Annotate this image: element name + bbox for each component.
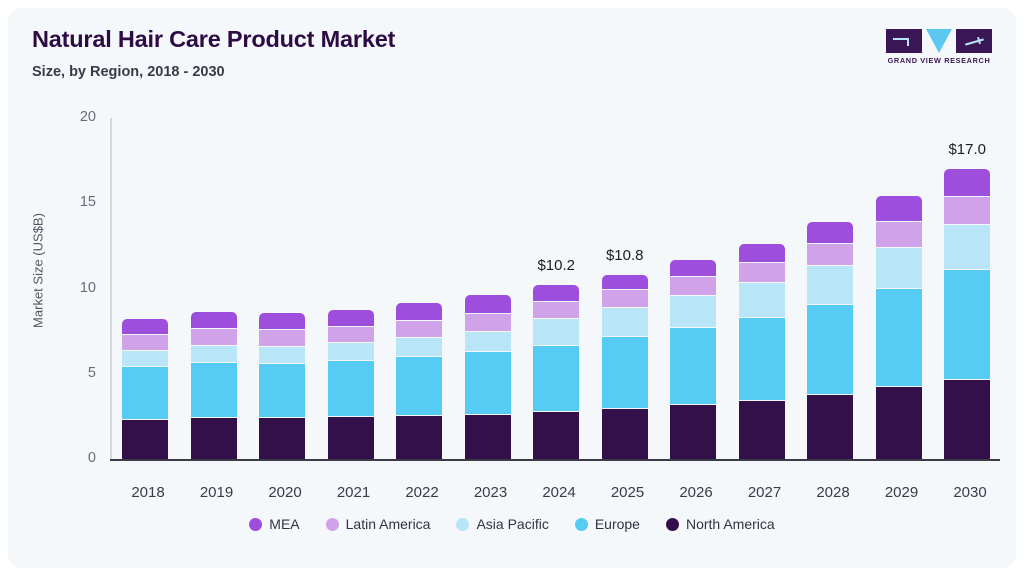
x-tick-label: 2020 bbox=[248, 484, 322, 501]
x-tick-label: 2027 bbox=[728, 484, 802, 501]
legend-item[interactable]: Asia Pacific bbox=[456, 516, 548, 532]
bar-segment[interactable] bbox=[533, 302, 579, 319]
bar-segment[interactable] bbox=[191, 346, 237, 363]
bar-stack bbox=[533, 285, 579, 459]
bar-segment[interactable] bbox=[465, 314, 511, 332]
bar-segment[interactable] bbox=[944, 380, 990, 459]
bar-stack bbox=[602, 275, 648, 459]
bar-segment[interactable] bbox=[122, 335, 168, 350]
bar-segment[interactable] bbox=[259, 347, 305, 365]
bar-segment[interactable] bbox=[807, 222, 853, 244]
legend-label: Europe bbox=[595, 516, 640, 532]
x-tick-label: 2019 bbox=[180, 484, 254, 501]
bar-segment[interactable] bbox=[259, 418, 305, 459]
y-axis-line bbox=[110, 118, 112, 460]
bar-segment[interactable] bbox=[876, 289, 922, 388]
bar-segment[interactable] bbox=[876, 196, 922, 222]
bar-stack bbox=[807, 222, 853, 459]
legend-swatch-icon bbox=[326, 518, 339, 531]
bar-stack bbox=[191, 312, 237, 459]
legend-label: MEA bbox=[269, 516, 299, 532]
bar-stack bbox=[122, 319, 168, 459]
bar-segment[interactable] bbox=[396, 338, 442, 357]
bar-segment[interactable] bbox=[807, 244, 853, 266]
x-tick-label: 2030 bbox=[933, 484, 1007, 501]
bar-stack bbox=[670, 260, 716, 459]
bar-segment[interactable] bbox=[944, 270, 990, 380]
legend-label: North America bbox=[686, 516, 775, 532]
bar-segment[interactable] bbox=[739, 318, 785, 401]
bar-segment[interactable] bbox=[122, 367, 168, 420]
bar-segment[interactable] bbox=[259, 364, 305, 418]
bar-segment[interactable] bbox=[602, 290, 648, 308]
x-tick-label: 2021 bbox=[317, 484, 391, 501]
bar-segment[interactable] bbox=[396, 416, 442, 459]
bar-segment[interactable] bbox=[739, 244, 785, 263]
y-tick-label: 5 bbox=[50, 365, 96, 381]
bar-segment[interactable] bbox=[670, 296, 716, 328]
x-tick-label: 2018 bbox=[111, 484, 185, 501]
x-tick-label: 2029 bbox=[865, 484, 939, 501]
bar-segment[interactable] bbox=[122, 319, 168, 335]
y-axis-title: Market Size (US$B) bbox=[31, 181, 46, 361]
bar-segment[interactable] bbox=[465, 352, 511, 415]
bar-segment[interactable] bbox=[396, 357, 442, 417]
bar-segment[interactable] bbox=[602, 337, 648, 409]
chart-legend: MEALatin AmericaAsia PacificEuropeNorth … bbox=[8, 516, 1016, 532]
bar-segment[interactable] bbox=[670, 405, 716, 459]
chart-card: Natural Hair Care Product Market Size, b… bbox=[8, 8, 1016, 568]
y-tick-label: 20 bbox=[50, 109, 96, 125]
legend-item[interactable]: North America bbox=[666, 516, 775, 532]
bar-stack bbox=[328, 310, 374, 459]
bar-segment[interactable] bbox=[670, 260, 716, 278]
legend-item[interactable]: Europe bbox=[575, 516, 640, 532]
bar-segment[interactable] bbox=[944, 225, 990, 269]
bar-segment[interactable] bbox=[465, 332, 511, 352]
chart-plot-area: Market Size (US$B) 05101520 $10.2$10.8$1… bbox=[8, 8, 1016, 568]
bar-segment[interactable] bbox=[191, 329, 237, 345]
bar-stack bbox=[465, 295, 511, 459]
legend-label: Latin America bbox=[346, 516, 431, 532]
legend-item[interactable]: MEA bbox=[249, 516, 299, 532]
bar-segment[interactable] bbox=[739, 401, 785, 459]
bar-stack bbox=[739, 244, 785, 459]
bar-segment[interactable] bbox=[191, 312, 237, 329]
legend-swatch-icon bbox=[575, 518, 588, 531]
bar-segment[interactable] bbox=[670, 277, 716, 296]
bar-segment[interactable] bbox=[259, 330, 305, 346]
bar-segment[interactable] bbox=[396, 321, 442, 338]
bar-stack bbox=[396, 303, 442, 459]
bar-segment[interactable] bbox=[191, 363, 237, 418]
bar-segment[interactable] bbox=[602, 308, 648, 337]
bar-segment[interactable] bbox=[670, 328, 716, 406]
y-tick-label: 0 bbox=[50, 450, 96, 466]
bar-segment[interactable] bbox=[533, 319, 579, 345]
bar-segment[interactable] bbox=[739, 283, 785, 318]
legend-item[interactable]: Latin America bbox=[326, 516, 431, 532]
y-tick-label: 10 bbox=[50, 280, 96, 296]
bar-segment[interactable] bbox=[944, 197, 990, 225]
x-tick-label: 2025 bbox=[591, 484, 665, 501]
legend-label: Asia Pacific bbox=[476, 516, 548, 532]
legend-swatch-icon bbox=[456, 518, 469, 531]
legend-swatch-icon bbox=[666, 518, 679, 531]
x-tick-label: 2028 bbox=[796, 484, 870, 501]
y-tick-label: 15 bbox=[50, 194, 96, 210]
bar-stack bbox=[944, 169, 990, 459]
bar-segment[interactable] bbox=[807, 266, 853, 304]
bar-value-label: $17.0 bbox=[930, 141, 1004, 158]
x-tick-label: 2024 bbox=[522, 484, 596, 501]
x-tick-label: 2022 bbox=[385, 484, 459, 501]
bar-stack bbox=[876, 196, 922, 459]
bar-segment[interactable] bbox=[465, 415, 511, 459]
bar-value-label: $10.2 bbox=[519, 257, 593, 274]
bar-segment[interactable] bbox=[328, 343, 374, 361]
bar-segment[interactable] bbox=[739, 263, 785, 283]
bar-segment[interactable] bbox=[602, 275, 648, 290]
bar-segment[interactable] bbox=[122, 420, 168, 459]
bar-stack bbox=[259, 313, 305, 459]
bar-segment[interactable] bbox=[396, 303, 442, 321]
bar-value-label: $10.8 bbox=[588, 247, 662, 264]
bar-segment[interactable] bbox=[876, 248, 922, 288]
bar-segment[interactable] bbox=[328, 417, 374, 459]
legend-swatch-icon bbox=[249, 518, 262, 531]
bar-segment[interactable] bbox=[876, 222, 922, 248]
x-tick-label: 2026 bbox=[659, 484, 733, 501]
x-tick-label: 2023 bbox=[454, 484, 528, 501]
bar-segment[interactable] bbox=[533, 412, 579, 459]
bar-segment[interactable] bbox=[259, 313, 305, 330]
bar-segment[interactable] bbox=[602, 409, 648, 459]
bar-segment[interactable] bbox=[191, 418, 237, 459]
bar-segment[interactable] bbox=[533, 346, 579, 412]
bar-segment[interactable] bbox=[876, 387, 922, 459]
bar-segment[interactable] bbox=[328, 310, 374, 327]
bar-segment[interactable] bbox=[807, 305, 853, 395]
bar-segment[interactable] bbox=[465, 295, 511, 314]
bar-segment[interactable] bbox=[533, 285, 579, 302]
bar-segment[interactable] bbox=[944, 169, 990, 197]
bar-segment[interactable] bbox=[328, 327, 374, 343]
x-axis-line bbox=[110, 459, 1000, 461]
bar-segment[interactable] bbox=[807, 395, 853, 459]
bar-segment[interactable] bbox=[122, 351, 168, 367]
bar-segment[interactable] bbox=[328, 361, 374, 417]
